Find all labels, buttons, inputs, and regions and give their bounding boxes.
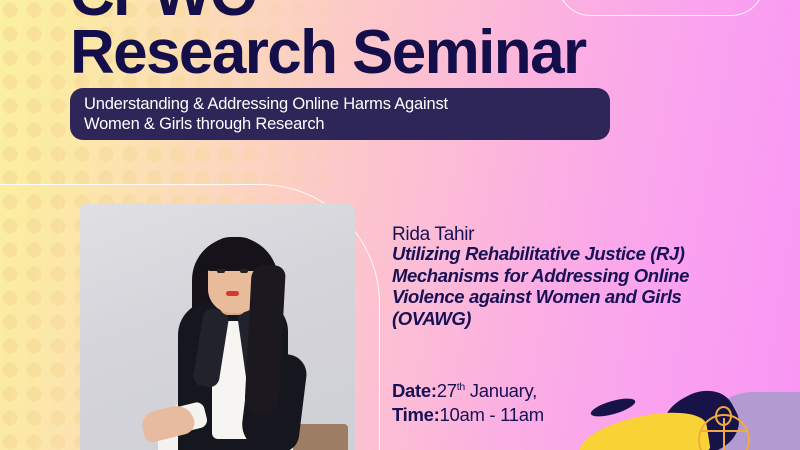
time-label: Time: — [392, 404, 440, 425]
decor-gold-stem — [723, 418, 726, 450]
talk-title: Utilizing Rehabilitative Justice (RJ) Me… — [392, 243, 744, 330]
decor-gold-ring-icon — [715, 406, 732, 426]
photo-lips — [226, 291, 239, 296]
decor-navy-sliver — [589, 395, 637, 420]
speaker-photo — [80, 203, 355, 450]
decor-yellow-swoosh — [575, 406, 711, 450]
subtitle-line-2: Women & Girls through Research — [84, 114, 596, 134]
subtitle-banner: Understanding & Addressing Online Harms … — [70, 88, 610, 140]
decor-purple-shape — [688, 392, 800, 450]
decor-gold-beam — [700, 430, 748, 433]
page-title: CPWO Research Seminar — [70, 0, 690, 83]
event-schedule: Date:27th January, Time:10am - 11am — [392, 379, 544, 427]
photo-eye-left — [217, 269, 225, 273]
photo-eye-right — [240, 269, 248, 273]
subtitle-line-1: Understanding & Addressing Online Harms … — [84, 94, 596, 114]
headline-line-2: Research Seminar — [70, 24, 690, 82]
event-date-row: Date:27th January, — [392, 379, 544, 403]
date-label: Date: — [392, 380, 437, 401]
time-value: 10am - 11am — [440, 404, 544, 425]
date-month: January, — [470, 380, 537, 401]
date-ordinal: th — [457, 381, 465, 393]
event-time-row: Time:10am - 11am — [392, 403, 544, 427]
decor-gold-circle-icon — [698, 414, 750, 450]
decor-navy-blob — [650, 379, 748, 450]
date-day: 27 — [437, 380, 457, 401]
seminar-poster: CPWO Research Seminar Understanding & Ad… — [0, 0, 800, 450]
